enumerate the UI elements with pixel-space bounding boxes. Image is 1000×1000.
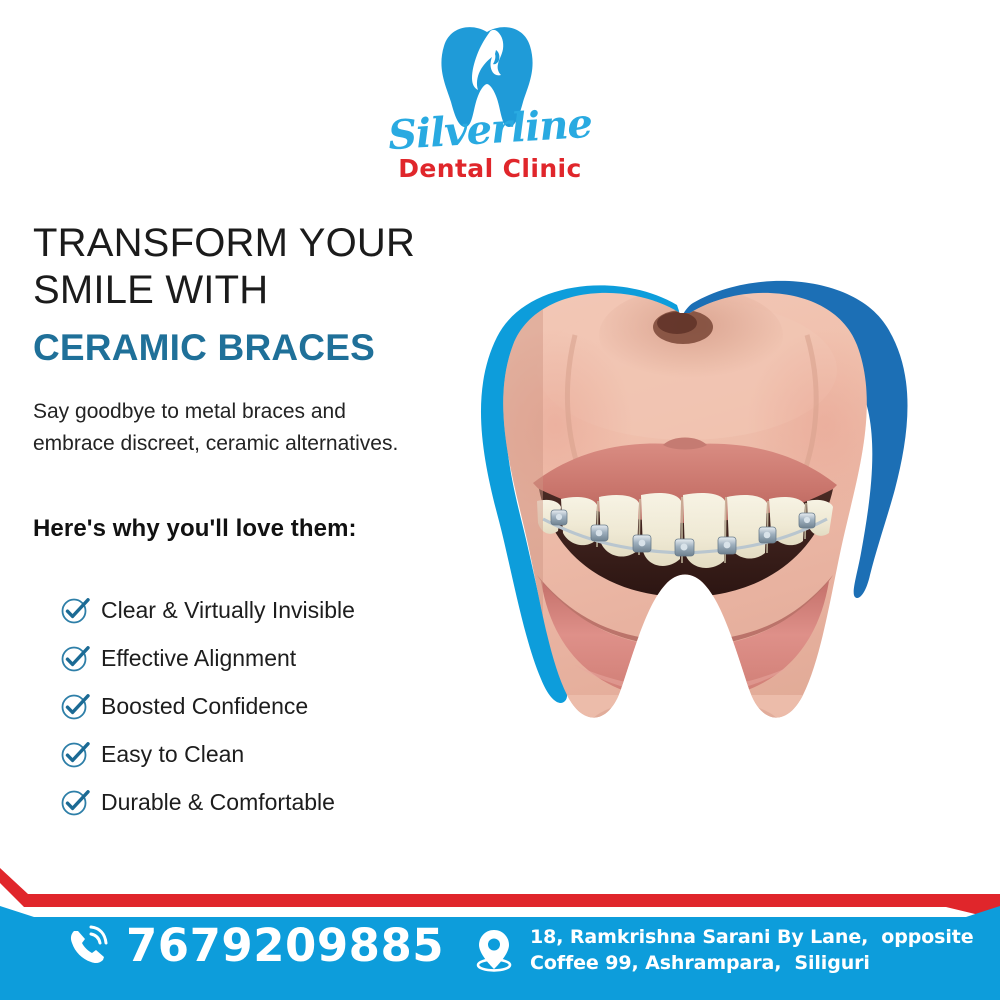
check-circle-icon bbox=[60, 595, 90, 625]
list-item: Effective Alignment bbox=[60, 634, 460, 682]
check-circle-icon bbox=[60, 643, 90, 673]
page-title: TRANSFORM YOUR SMILE WITH bbox=[33, 220, 433, 314]
dental-clinic-ad-poster: Silverline Dental Clinic TRANSFORM YOUR … bbox=[0, 0, 1000, 1000]
list-item-label: Easy to Clean bbox=[101, 743, 244, 766]
hero-image-tooth bbox=[425, 275, 990, 805]
list-item: Clear & Virtually Invisible bbox=[60, 586, 460, 634]
list-item: Durable & Comfortable bbox=[60, 778, 460, 826]
headline-line-2: SMILE WITH bbox=[33, 267, 433, 314]
list-item-label: Boosted Confidence bbox=[101, 695, 308, 718]
list-item: Easy to Clean bbox=[60, 730, 460, 778]
logo-script-name: Silverline bbox=[379, 103, 601, 156]
list-item-label: Effective Alignment bbox=[101, 647, 296, 670]
body-paragraph: Say goodbye to metal braces and embrace … bbox=[33, 396, 428, 460]
phone-contact[interactable]: 7679209885 bbox=[64, 922, 444, 968]
check-circle-icon bbox=[60, 787, 90, 817]
address-contact[interactable]: 18, Ramkrishna Sarani By Lane, opposite … bbox=[472, 924, 974, 976]
benefits-list: Clear & Virtually Invisible Effective Al… bbox=[60, 586, 460, 826]
address-text[interactable]: 18, Ramkrishna Sarani By Lane, opposite … bbox=[530, 924, 974, 976]
location-pin-icon bbox=[472, 927, 516, 973]
clinic-logo: Silverline Dental Clinic bbox=[380, 24, 600, 194]
headline-accent: CERAMIC BRACES bbox=[33, 328, 453, 369]
check-circle-icon bbox=[60, 739, 90, 769]
ringing-phone-icon bbox=[64, 922, 110, 968]
logo-sub-name: Dental Clinic bbox=[380, 156, 600, 181]
list-item-label: Durable & Comfortable bbox=[101, 791, 335, 814]
headline-line-1: TRANSFORM YOUR bbox=[33, 220, 433, 267]
list-item-label: Clear & Virtually Invisible bbox=[101, 599, 355, 622]
benefits-heading: Here's why you'll love them: bbox=[33, 515, 453, 543]
list-item: Boosted Confidence bbox=[60, 682, 460, 730]
phone-number[interactable]: 7679209885 bbox=[126, 923, 444, 968]
contact-footer: 7679209885 18, Ramkrishna Sarani By Lane… bbox=[0, 860, 1000, 1000]
check-circle-icon bbox=[60, 691, 90, 721]
